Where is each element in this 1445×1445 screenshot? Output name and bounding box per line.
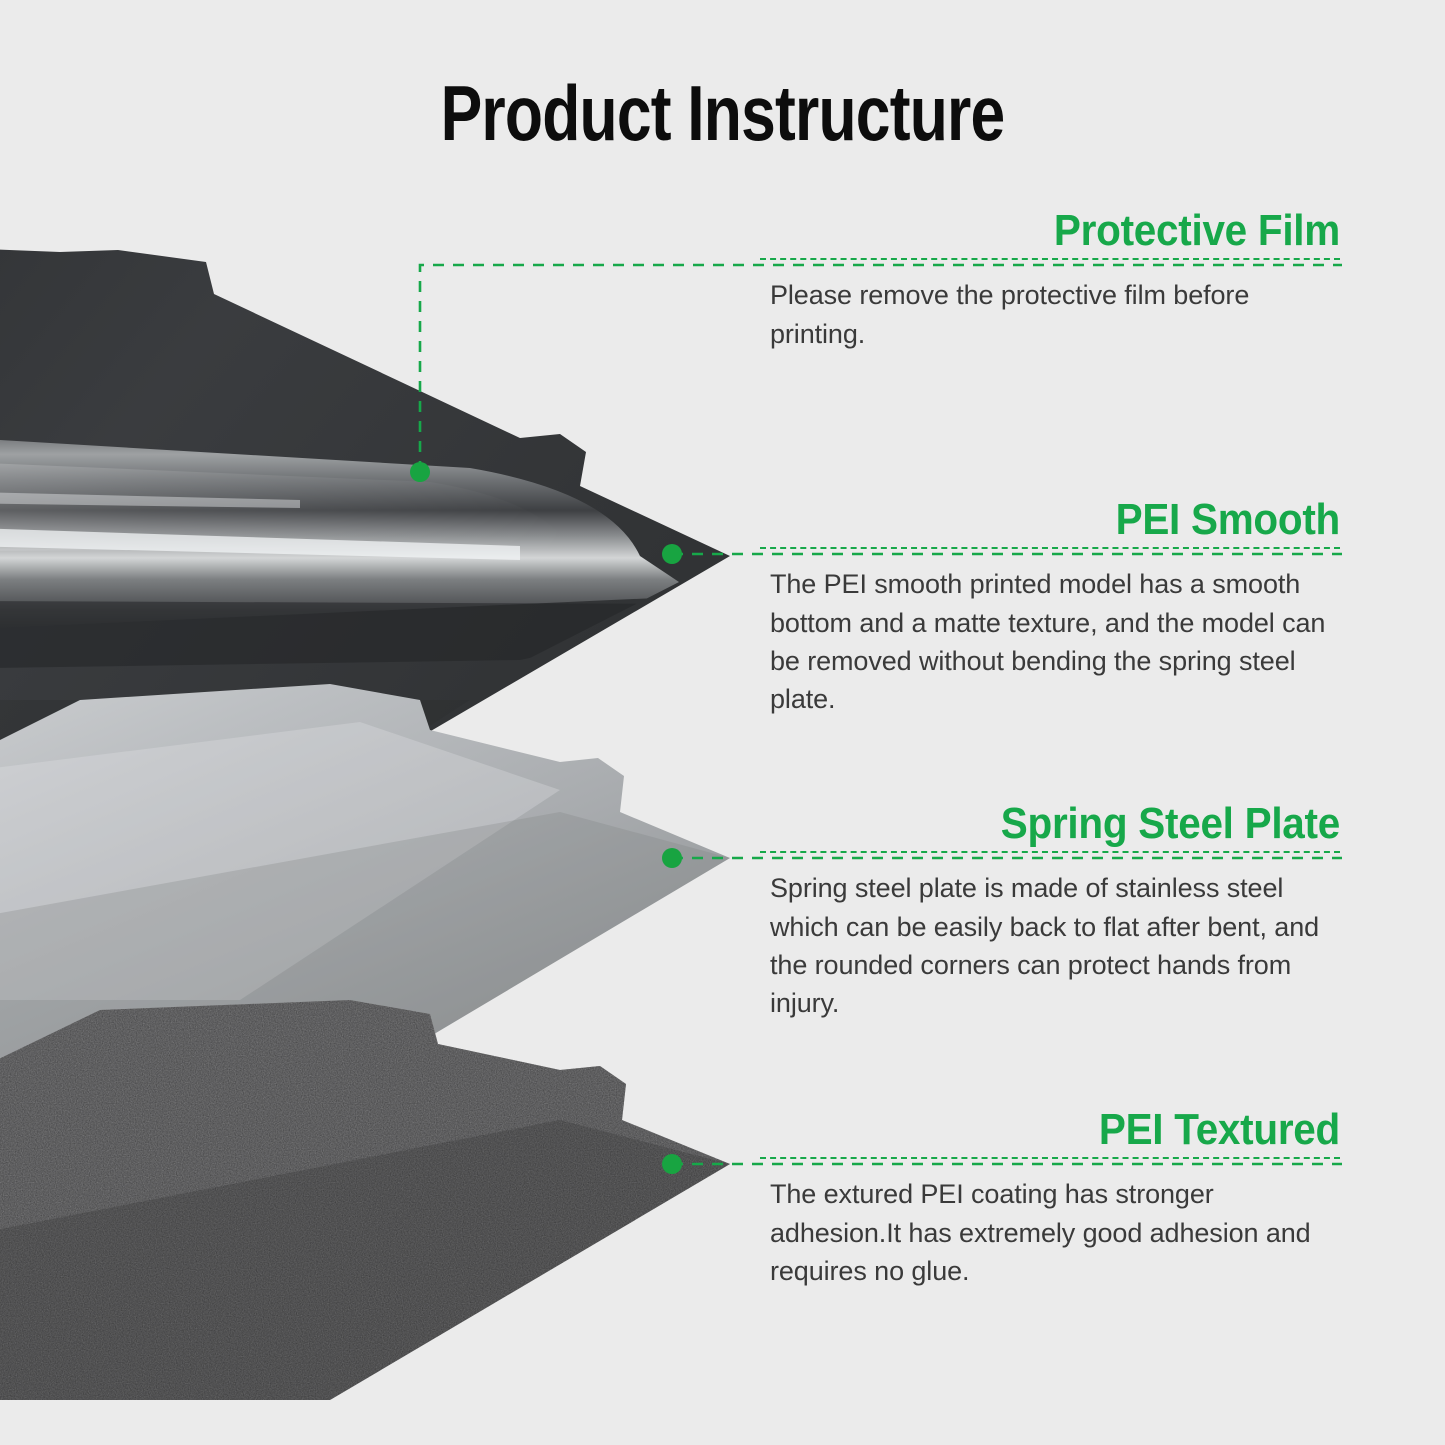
callout-divider-protective-film <box>760 258 1340 260</box>
callout-body-spring-steel-plate: Spring steel plate is made of stainless … <box>770 869 1340 1022</box>
callout-heading-pei-textured: PEI Textured <box>806 1107 1340 1153</box>
callout-heading-spring-steel-plate: Spring Steel Plate <box>806 801 1340 847</box>
callout-pei-textured: PEI Textured The extured PEI coating has… <box>760 1107 1340 1290</box>
callout-divider-pei-smooth <box>760 547 1340 549</box>
callout-protective-film: Protective Film Please remove the protec… <box>760 208 1340 353</box>
callout-body-pei-textured: The extured PEI coating has stronger adh… <box>770 1175 1340 1290</box>
callout-divider-spring-steel-plate <box>760 851 1340 853</box>
callout-heading-pei-smooth: PEI Smooth <box>806 497 1340 543</box>
callout-heading-protective-film: Protective Film <box>806 208 1340 254</box>
callout-body-pei-smooth: The PEI smooth printed model has a smoot… <box>770 565 1340 718</box>
pei-textured-plate-layer <box>0 1000 730 1400</box>
callout-pei-smooth: PEI Smooth The PEI smooth printed model … <box>760 497 1340 719</box>
product-instruction-infographic: Product Instructure <box>0 0 1445 1445</box>
callout-spring-steel-plate: Spring Steel Plate Spring steel plate is… <box>760 801 1340 1023</box>
callout-body-protective-film: Please remove the protective film before… <box>770 276 1340 353</box>
callout-divider-pei-textured <box>760 1157 1340 1159</box>
